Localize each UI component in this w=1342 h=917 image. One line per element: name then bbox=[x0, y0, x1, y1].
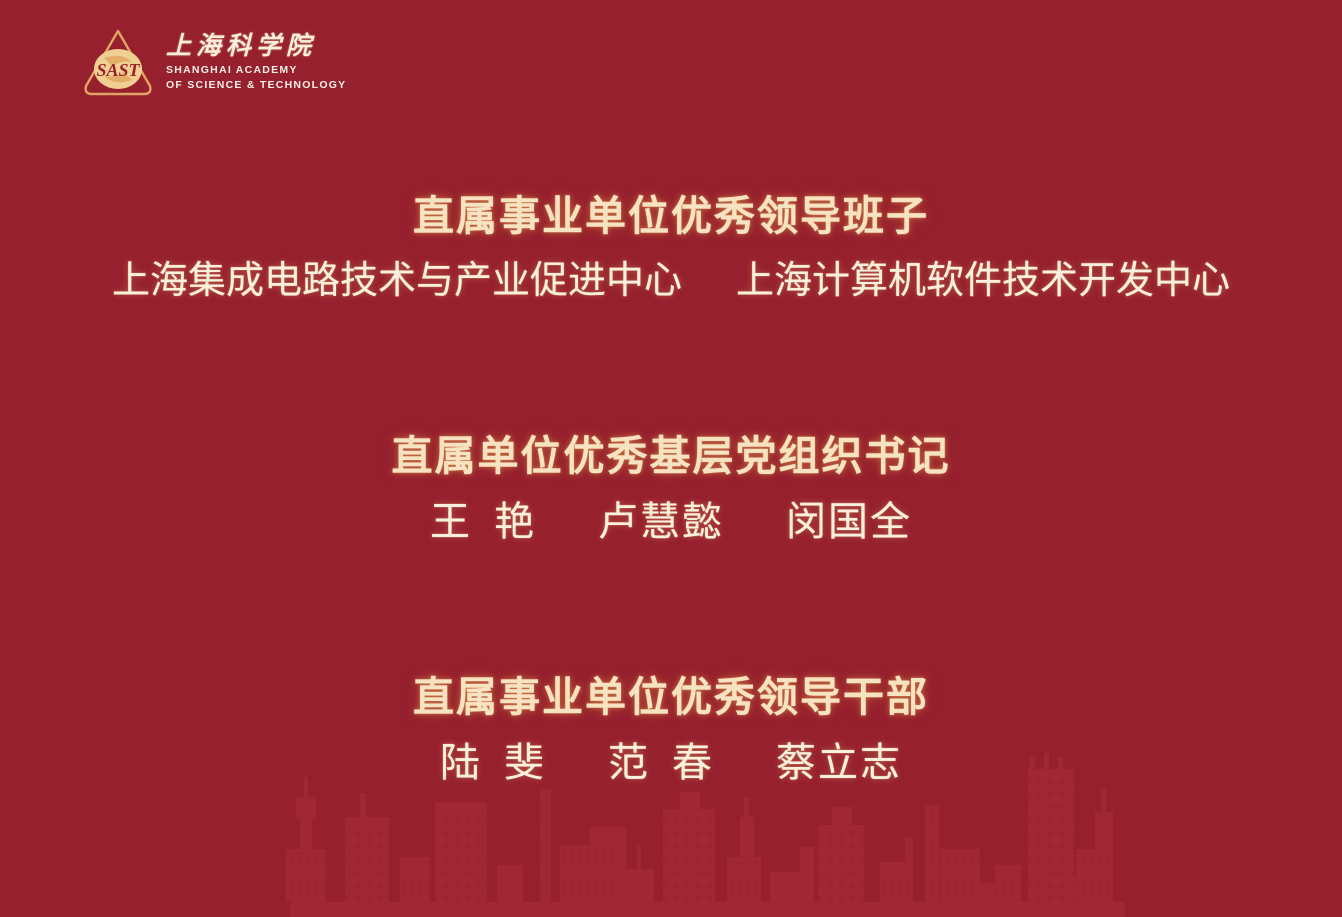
logo-chinese-name: 上海科学院 bbox=[166, 34, 346, 60]
award-recipient-entry: 上海计算机软件技术开发中心 bbox=[736, 258, 1230, 306]
award-title: 直属单位优秀基层党组织书记 bbox=[0, 432, 1342, 481]
name-surname: 陆 bbox=[440, 741, 482, 785]
award-group-outstanding-leadership-team: 直属事业单位优秀领导班子 上海集成电路技术与产业促进中心上海计算机软件技术开发中… bbox=[0, 192, 1342, 306]
name-given: 春 bbox=[672, 741, 714, 785]
award-recipient-name: 王艳 bbox=[430, 497, 536, 547]
sast-logo: SAST 上海科学院 SHANGHAI ACADEMY OF SCIENCE &… bbox=[82, 28, 346, 98]
award-title: 直属事业单位优秀领导班子 bbox=[0, 192, 1342, 241]
award-recipient-list: 陆斐范春蔡立志 bbox=[0, 738, 1342, 788]
name-given: 艳 bbox=[494, 500, 536, 544]
award-recipient-name: 蔡立志 bbox=[776, 738, 902, 788]
award-recipient-list: 王艳卢慧懿闵国全 bbox=[0, 497, 1342, 547]
award-recipient-name: 陆斐 bbox=[440, 738, 546, 788]
award-slide: SAST 上海科学院 SHANGHAI ACADEMY OF SCIENCE &… bbox=[0, 0, 1342, 917]
award-recipient-name: 卢慧懿 bbox=[598, 497, 724, 547]
award-recipient-name: 闵国全 bbox=[786, 497, 912, 547]
award-group-outstanding-leading-cadre: 直属事业单位优秀领导干部 陆斐范春蔡立志 bbox=[0, 673, 1342, 788]
award-recipient-list: 上海集成电路技术与产业促进中心上海计算机软件技术开发中心 bbox=[0, 258, 1342, 306]
award-recipient-entry: 上海集成电路技术与产业促进中心 bbox=[112, 258, 682, 306]
name-surname: 王 bbox=[430, 500, 472, 544]
sast-logo-mark-icon: SAST bbox=[82, 28, 154, 98]
name-surname: 范 bbox=[608, 741, 650, 785]
award-title: 直属事业单位优秀领导干部 bbox=[0, 673, 1342, 722]
logo-english-line1: SHANGHAI ACADEMY bbox=[166, 63, 346, 77]
svg-text:SAST: SAST bbox=[96, 60, 140, 80]
name-given: 斐 bbox=[504, 741, 546, 785]
award-recipient-name: 范春 bbox=[608, 738, 714, 788]
logo-english-name: SHANGHAI ACADEMY OF SCIENCE & TECHNOLOGY bbox=[166, 63, 346, 91]
logo-english-line2: OF SCIENCE & TECHNOLOGY bbox=[166, 78, 346, 92]
award-group-outstanding-party-secretary: 直属单位优秀基层党组织书记 王艳卢慧懿闵国全 bbox=[0, 432, 1342, 547]
